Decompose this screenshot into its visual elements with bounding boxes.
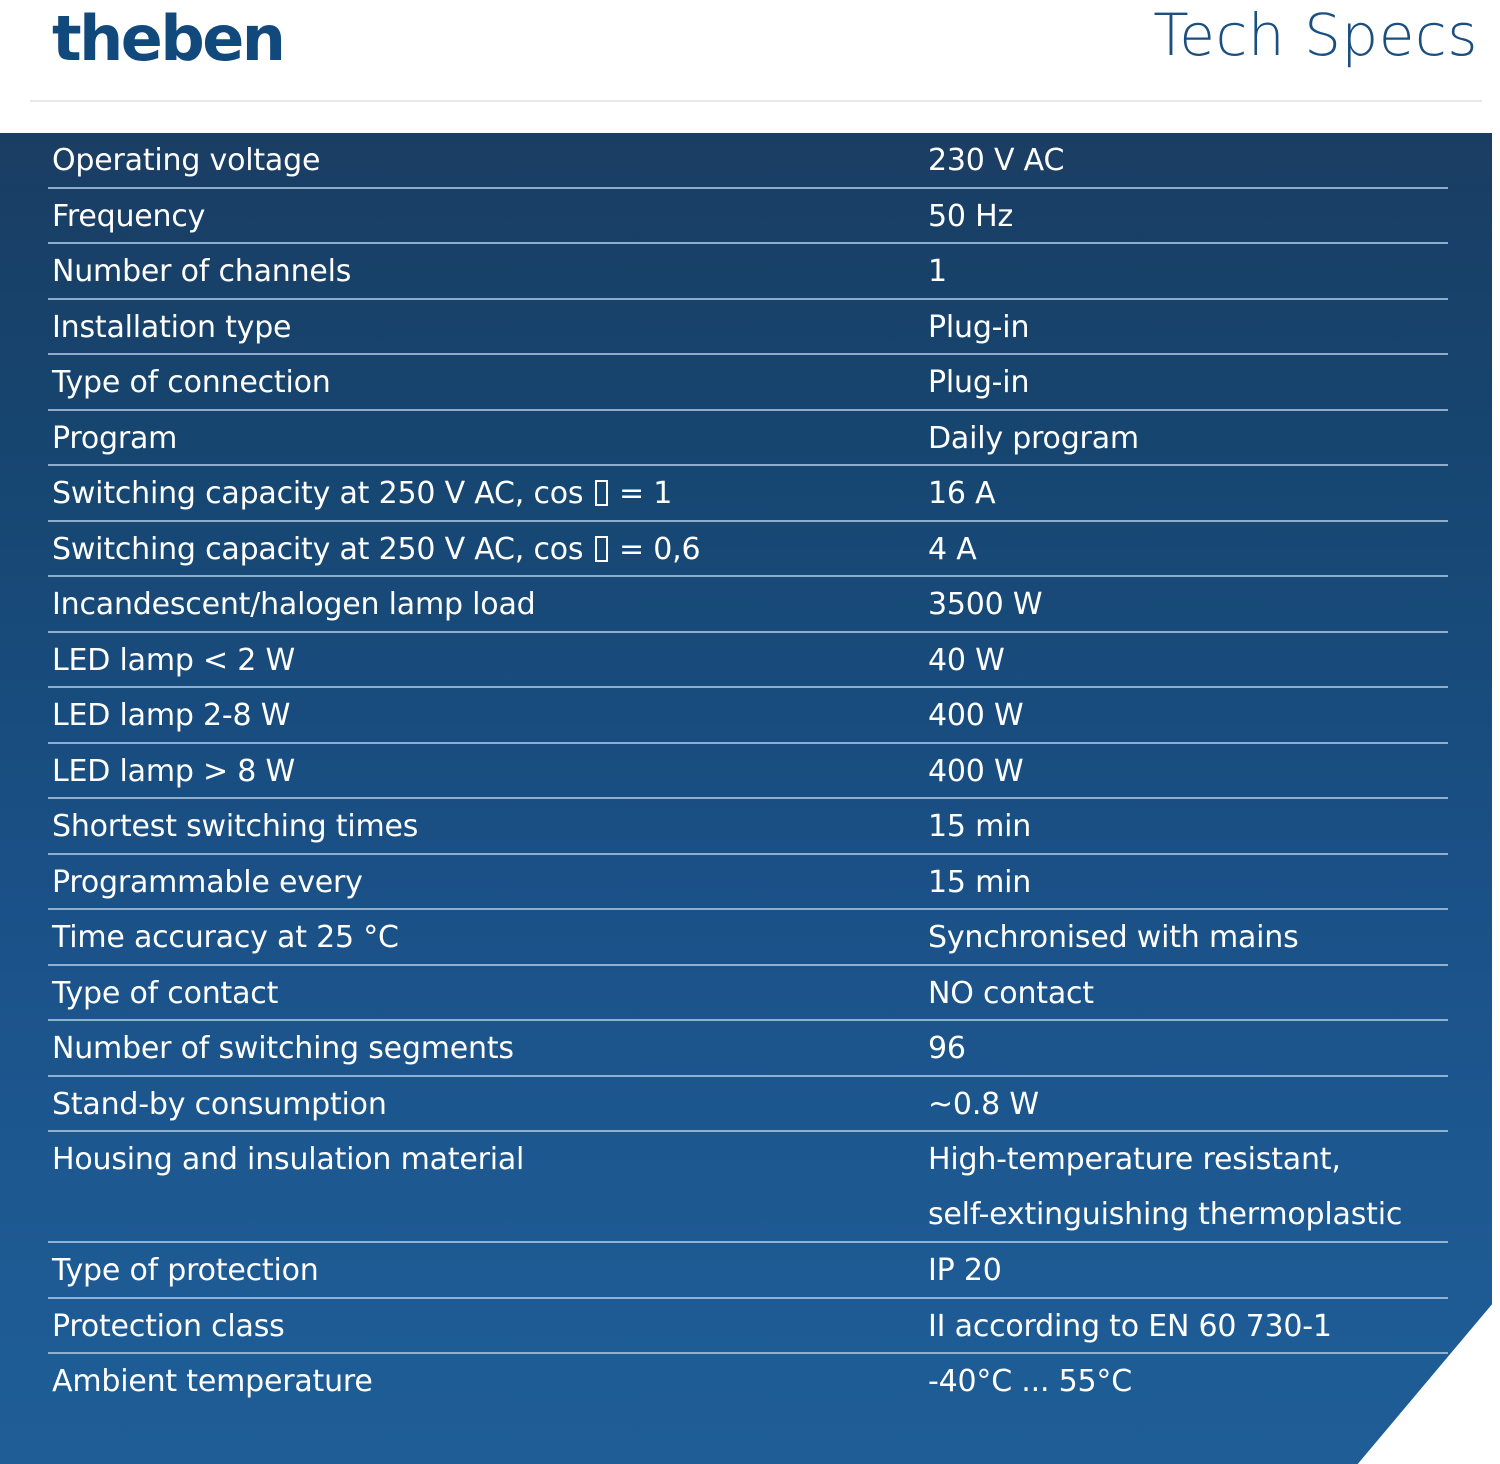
table-row: Number of channels1 bbox=[0, 244, 1492, 300]
page-title: Tech Specs bbox=[1153, 6, 1478, 64]
spec-label: Frequency bbox=[52, 193, 205, 241]
spec-label: Time accuracy at 25 °C bbox=[52, 914, 399, 962]
spec-value: 230 V AC bbox=[928, 137, 1064, 185]
spec-value: 15 min bbox=[928, 803, 1031, 851]
table-row: Switching capacity at 250 V AC, cos = 0,… bbox=[0, 522, 1492, 578]
table-row: Operating voltage230 V AC bbox=[0, 133, 1492, 189]
tech-specs-table: Operating voltage230 V ACFrequency50 HzN… bbox=[0, 133, 1492, 1410]
spec-value: -40°C ... 55°C bbox=[928, 1358, 1132, 1406]
table-row: LED lamp < 2 W40 W bbox=[0, 633, 1492, 689]
table-row: Time accuracy at 25 °CSynchronised with … bbox=[0, 910, 1492, 966]
spec-label: Type of connection bbox=[52, 359, 331, 407]
table-row: Type of connectionPlug-in bbox=[0, 355, 1492, 411]
spec-value: 50 Hz bbox=[928, 193, 1013, 241]
theben-logo: theben bbox=[52, 8, 283, 70]
spec-label: Stand-by consumption bbox=[52, 1081, 387, 1129]
spec-value: High-temperature resistant, self-extingu… bbox=[928, 1132, 1402, 1242]
table-row: LED lamp 2-8 W400 W bbox=[0, 688, 1492, 744]
table-row: Number of switching segments96 bbox=[0, 1021, 1492, 1077]
spec-value: Plug-in bbox=[928, 359, 1029, 407]
spec-value: 1 bbox=[928, 248, 947, 296]
spec-label: LED lamp > 8 W bbox=[52, 748, 295, 796]
table-row: Installation typePlug-in bbox=[0, 300, 1492, 356]
spec-value: 15 min bbox=[928, 859, 1031, 907]
spec-value: IP 20 bbox=[928, 1247, 1002, 1295]
table-row: Type of protectionIP 20 bbox=[0, 1243, 1492, 1299]
spec-label: Ambient temperature bbox=[52, 1358, 373, 1406]
missing-glyph-icon bbox=[595, 536, 608, 562]
spec-value: 400 W bbox=[928, 748, 1023, 796]
spec-label: Number of switching segments bbox=[52, 1025, 514, 1073]
spec-value: 400 W bbox=[928, 692, 1023, 740]
table-row: LED lamp > 8 W400 W bbox=[0, 744, 1492, 800]
table-row: Housing and insulation materialHigh-temp… bbox=[0, 1132, 1492, 1243]
spec-label: Type of contact bbox=[52, 970, 278, 1018]
spec-value: 4 A bbox=[928, 526, 977, 574]
spec-label: Protection class bbox=[52, 1303, 285, 1351]
spec-label: Switching capacity at 250 V AC, cos = 0,… bbox=[52, 526, 700, 574]
spec-label: Installation type bbox=[52, 304, 291, 352]
page-header: theben Tech Specs bbox=[0, 0, 1500, 133]
spec-label: LED lamp 2-8 W bbox=[52, 692, 290, 740]
table-row: Frequency50 Hz bbox=[0, 189, 1492, 245]
spec-label: Switching capacity at 250 V AC, cos = 1 bbox=[52, 470, 672, 518]
spec-label: Housing and insulation material bbox=[52, 1136, 524, 1184]
spec-value: 3500 W bbox=[928, 581, 1042, 629]
spec-value: 40 W bbox=[928, 637, 1005, 685]
spec-value: NO contact bbox=[928, 970, 1094, 1018]
table-row: Ambient temperature-40°C ... 55°C bbox=[0, 1354, 1492, 1410]
spec-value: Synchronised with mains bbox=[928, 914, 1299, 962]
spec-value: Plug-in bbox=[928, 304, 1029, 352]
table-row: Shortest switching times15 min bbox=[0, 799, 1492, 855]
spec-label: Operating voltage bbox=[52, 137, 320, 185]
header-divider bbox=[30, 100, 1482, 102]
spec-value: Daily program bbox=[928, 415, 1139, 463]
missing-glyph-icon bbox=[595, 480, 608, 506]
spec-label: LED lamp < 2 W bbox=[52, 637, 295, 685]
table-row: Switching capacity at 250 V AC, cos = 11… bbox=[0, 466, 1492, 522]
spec-label: Shortest switching times bbox=[52, 803, 418, 851]
tech-specs-panel: Operating voltage230 V ACFrequency50 HzN… bbox=[0, 133, 1492, 1464]
table-row: Protection classII according to EN 60 73… bbox=[0, 1299, 1492, 1355]
spec-value: 16 A bbox=[928, 470, 995, 518]
spec-label: Type of protection bbox=[52, 1247, 319, 1295]
spec-label: Incandescent/halogen lamp load bbox=[52, 581, 536, 629]
spec-label: Number of channels bbox=[52, 248, 351, 296]
table-row: Stand-by consumption~0.8 W bbox=[0, 1077, 1492, 1133]
table-row: Programmable every15 min bbox=[0, 855, 1492, 911]
spec-label: Program bbox=[52, 415, 177, 463]
table-row: ProgramDaily program bbox=[0, 411, 1492, 467]
spec-value: 96 bbox=[928, 1025, 966, 1073]
spec-value: II according to EN 60 730-1 bbox=[928, 1303, 1332, 1351]
spec-value: ~0.8 W bbox=[928, 1081, 1039, 1129]
table-row: Incandescent/halogen lamp load3500 W bbox=[0, 577, 1492, 633]
spec-label: Programmable every bbox=[52, 859, 363, 907]
table-row: Type of contactNO contact bbox=[0, 966, 1492, 1022]
